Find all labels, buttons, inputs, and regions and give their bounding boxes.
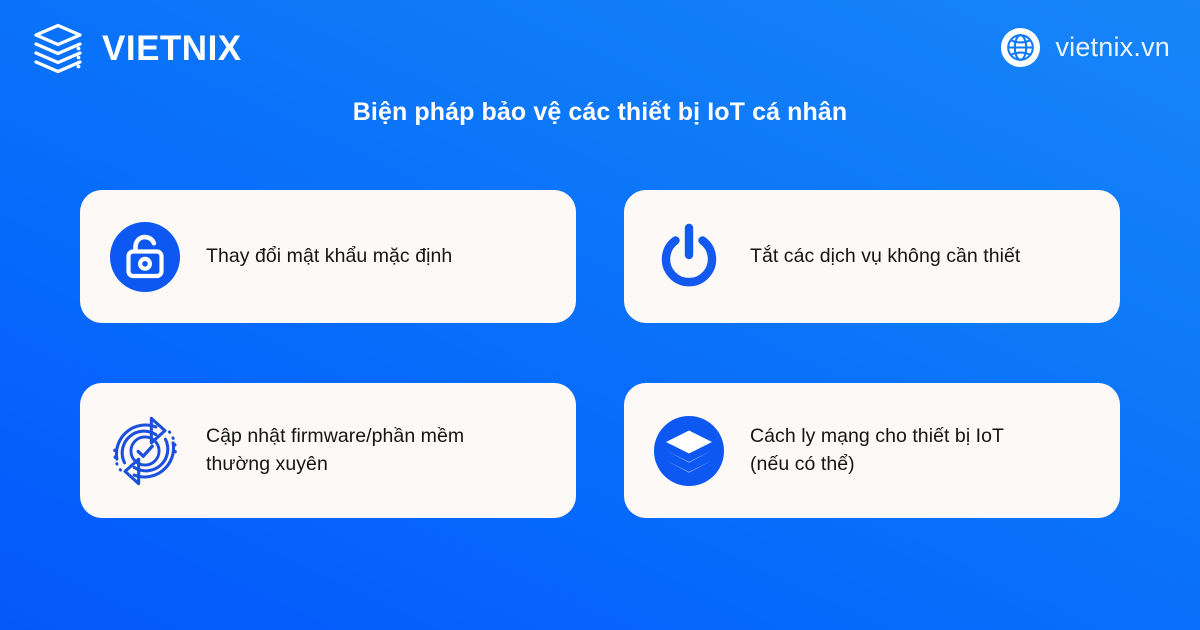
tip-card-network-isolation[interactable]: Cách ly mạng cho thiết bị IoT (nếu có th… xyxy=(624,383,1120,518)
tip-line-2: (nếu có thể) xyxy=(750,451,1004,479)
tip-card-text: Tắt các dịch vụ không cần thiết xyxy=(750,243,1020,271)
power-button-icon xyxy=(650,218,728,296)
tip-card-text: Cách ly mạng cho thiết bị IoT (nếu có th… xyxy=(750,423,1004,478)
brand-logo[interactable]: VIETNIX xyxy=(28,18,242,78)
infographic-canvas: VIETNIX vietnix.vn Biện pháp bảo vệ các … xyxy=(0,0,1200,630)
tip-card-change-default-password[interactable]: Thay đổi mật khẩu mặc định xyxy=(80,190,576,323)
tip-line-1: Tắt các dịch vụ không cần thiết xyxy=(750,245,1020,267)
brand-name: VIETNIX xyxy=(102,31,242,66)
header: VIETNIX vietnix.vn xyxy=(0,0,1200,96)
tip-card-update-firmware[interactable]: Cập nhật firmware/phần mềm thường xuyên xyxy=(80,383,576,518)
page-title: Biện pháp bảo vệ các thiết bị IoT cá nhâ… xyxy=(0,98,1200,127)
network-layers-icon xyxy=(650,412,728,490)
tip-line-1: Thay đổi mật khẩu mặc định xyxy=(206,245,452,267)
tip-card-disable-services[interactable]: Tắt các dịch vụ không cần thiết xyxy=(624,190,1120,323)
refresh-sync-check-icon xyxy=(106,412,184,490)
unlock-padlock-icon xyxy=(106,218,184,296)
site-url-label: vietnix.vn xyxy=(1055,32,1170,63)
tip-card-text: Cập nhật firmware/phần mềm thường xuyên xyxy=(206,423,464,478)
site-url-badge[interactable]: vietnix.vn xyxy=(999,26,1170,69)
tip-line-2: thường xuyên xyxy=(206,451,464,479)
tips-grid: Thay đổi mật khẩu mặc định Tắt các dịch … xyxy=(80,190,1120,518)
stacked-layers-logo-icon xyxy=(28,18,88,78)
globe-icon xyxy=(999,26,1042,69)
tip-line-1: Cách ly mạng cho thiết bị IoT xyxy=(750,425,1004,447)
tip-card-text: Thay đổi mật khẩu mặc định xyxy=(206,243,452,271)
tip-line-1: Cập nhật firmware/phần mềm xyxy=(206,425,464,447)
